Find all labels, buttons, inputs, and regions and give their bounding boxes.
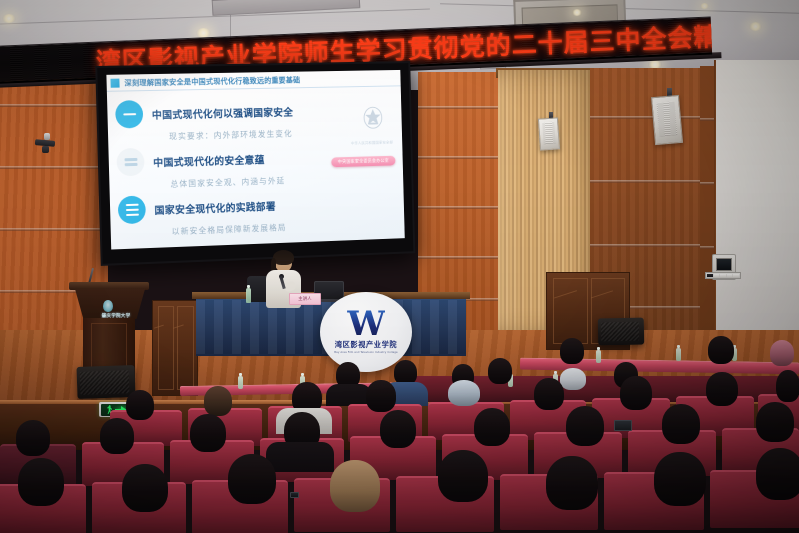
numeral-three-icon: [125, 203, 138, 216]
wall-white-right: [716, 60, 799, 360]
audience-head: [438, 450, 488, 502]
audience-head: [330, 460, 380, 512]
audience-head-with-cap: [560, 368, 586, 390]
wall-speaker: [538, 117, 560, 150]
recessed-downlight: [749, 22, 762, 31]
water-bottle: [238, 376, 243, 389]
audience-head: [770, 340, 794, 366]
wall-speaker: [651, 95, 683, 145]
control-key[interactable]: [727, 274, 733, 277]
speaker-glasses: [276, 260, 291, 264]
numeral-two-icon: [124, 158, 137, 166]
slide-item-title: 国家安全现代化的实践部署: [154, 198, 276, 217]
slide-header-text: 深刻理解国家安全是中国式现代化行稳致远的重要基础: [124, 75, 300, 89]
audience-head-with-cap: [448, 380, 480, 406]
water-bottle: [676, 348, 681, 361]
audience-head: [190, 414, 226, 452]
control-key[interactable]: [720, 274, 726, 277]
audience-head: [204, 386, 232, 416]
control-key[interactable]: [733, 274, 739, 277]
audience-head: [122, 464, 168, 512]
slide-item-subtitle: 总体国家安全观、内涵与外延: [170, 172, 403, 190]
audience-head: [228, 454, 276, 504]
audience-head: [474, 408, 510, 446]
water-bottle: [246, 288, 251, 303]
numeral-one-icon: [123, 113, 136, 116]
slide-body: 中华人民共和国国家安全部 中央国家安全委员会办公室 中国式现代化何以强调国家安全…: [107, 86, 405, 239]
audience-head: [366, 380, 396, 412]
audience-head: [654, 452, 706, 506]
speaker-nameplate-text: 主讲人: [298, 296, 312, 302]
audience-phone[interactable]: [290, 492, 299, 498]
slide-item-title: 中国式现代化的安全意蕴: [153, 151, 265, 169]
slide-bullet-square-icon: [110, 79, 119, 88]
projection-screen: 深刻理解国家安全是中国式现代化行稳致远的重要基础 中华人民共和国国家安全部 中央…: [95, 61, 415, 266]
audience-head: [100, 418, 134, 454]
audience-head: [776, 370, 799, 402]
audience-head: [620, 376, 652, 410]
slide-item-title: 中国式现代化何以强调国家安全: [152, 103, 294, 121]
university-crest-icon: [103, 300, 113, 312]
audience-area: [0, 332, 799, 533]
audience-head: [534, 378, 564, 410]
slide-item-number-badge-2: [116, 148, 144, 177]
audience-shoulders: [266, 442, 334, 472]
audience-head: [560, 338, 584, 364]
control-panel-keys[interactable]: [705, 272, 741, 279]
audience-head: [662, 404, 700, 444]
audience-head: [488, 358, 512, 384]
audience-head: [756, 448, 799, 500]
auditorium-photo: 湾区影视产业学院师生学习贯彻党的二十届三中全会精神 深刻理解国家安全是中国式现代…: [0, 0, 799, 533]
speaker-nameplate: 主讲人: [289, 293, 321, 305]
control-panel-screen: [716, 258, 732, 271]
slide-item: 中国式现代化何以强调国家安全: [115, 95, 402, 129]
slide-item-number-badge-3: [118, 195, 146, 224]
recessed-downlight: [700, 3, 709, 9]
audience-head: [546, 456, 598, 510]
wall-mount-bracket: [42, 146, 49, 153]
podium-top: [69, 282, 149, 290]
water-bottle: [596, 350, 601, 363]
slide-pink-label: 中央国家安全委员会办公室: [331, 156, 395, 167]
audience-head: [380, 410, 416, 448]
control-key[interactable]: [714, 274, 720, 277]
audience-head: [18, 458, 64, 506]
presentation-slide: 深刻理解国家安全是中国式现代化行稳致远的重要基础 中华人民共和国国家安全部 中央…: [106, 70, 404, 250]
podium-front-panel: 肇庆学院大学 ZHAOQING UNIVERSITY: [75, 289, 145, 319]
audience-head: [126, 390, 154, 420]
recessed-downlight: [2, 14, 16, 23]
wall-camera: [44, 133, 50, 140]
audience-head: [756, 402, 794, 442]
control-key[interactable]: [707, 274, 713, 277]
audience-head: [16, 420, 50, 456]
national-emblem-icon: [361, 104, 386, 132]
audience-head: [706, 372, 738, 406]
audience-head: [708, 336, 734, 364]
audience-head: [566, 406, 604, 446]
audience-laptop[interactable]: [614, 420, 632, 431]
recessed-downlight: [572, 9, 582, 16]
slide-item-number-badge-1: [115, 100, 143, 128]
